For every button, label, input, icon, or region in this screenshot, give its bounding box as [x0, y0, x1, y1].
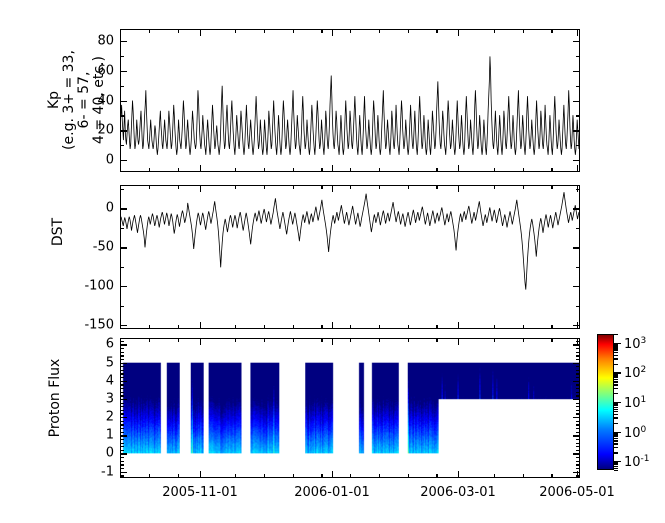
x-tick-minor-top — [264, 338, 265, 342]
x-tick-major-top — [577, 185, 578, 192]
x-tick-minor-bottom — [264, 168, 265, 172]
x-tick-minor-bottom — [551, 474, 552, 478]
x-tick-minor-top — [293, 185, 294, 189]
x-tick-minor-top — [408, 338, 409, 342]
y-tick-major — [120, 101, 127, 102]
y-tick-major-right — [573, 41, 580, 42]
y-tick-label: 3 — [106, 392, 114, 405]
y-tick-label: 0 — [106, 447, 114, 460]
y-tick-major — [120, 435, 127, 436]
x-tick-major-bottom — [332, 471, 333, 478]
y-tick-major — [120, 130, 127, 131]
y-tick-major-right — [573, 247, 580, 248]
y-tick-major — [120, 399, 127, 400]
x-tick-minor-bottom — [178, 325, 179, 329]
y-tick-minor-right — [576, 145, 580, 146]
y-tick-major — [120, 363, 127, 364]
flux-y-tick-labels: -10123456 — [58, 338, 114, 478]
y-tick-minor-right — [576, 355, 580, 356]
colorbar-tick-minor — [614, 379, 618, 380]
colorbar-tick-exponent: 1 — [641, 395, 647, 405]
x-tick-minor-bottom — [350, 474, 351, 478]
y-tick-major-right — [573, 130, 580, 131]
y-tick-major — [120, 208, 127, 209]
x-tick-major-top — [200, 29, 201, 36]
x-tick-major-bottom — [577, 471, 578, 478]
x-tick-minor-top — [178, 185, 179, 189]
y-tick-minor — [120, 377, 124, 378]
colorbar-tick-label: 10-1 — [624, 453, 650, 469]
x-tick-major-bottom — [200, 165, 201, 172]
x-tick-major-top — [458, 29, 459, 36]
y-tick-major — [120, 160, 127, 161]
x-tick-major-top — [458, 338, 459, 345]
x-tick-minor-top — [264, 185, 265, 189]
y-tick-minor — [120, 352, 124, 353]
y-tick-minor — [120, 145, 124, 146]
dst-axis-title-text: DST — [51, 218, 66, 246]
y-tick-minor — [120, 267, 124, 268]
x-tick-major-top — [458, 185, 459, 192]
x-tick-minor-bottom — [494, 168, 495, 172]
x-tick-minor-bottom — [408, 474, 409, 478]
colorbar-tick-label: 101 — [624, 394, 646, 410]
y-tick-major-right — [573, 208, 580, 209]
x-tick-minor-bottom — [321, 168, 322, 172]
x-tick-minor-bottom — [523, 325, 524, 329]
x-tick-minor-top — [235, 338, 236, 342]
x-tick-minor-bottom — [178, 474, 179, 478]
y-tick-minor-right — [576, 384, 580, 385]
colorbar-tick-minor — [614, 438, 618, 439]
x-tick-major-top — [577, 29, 578, 36]
y-tick-major-right — [573, 435, 580, 436]
y-tick-minor-right — [576, 392, 580, 393]
x-tick-major-top — [332, 29, 333, 36]
y-tick-minor-right — [576, 366, 580, 367]
y-tick-minor-right — [576, 228, 580, 229]
colorbar-tick-minor — [614, 388, 618, 389]
y-tick-label: 6 — [106, 338, 114, 351]
y-tick-minor — [120, 421, 124, 422]
y-tick-major — [120, 286, 127, 287]
y-tick-label: 5 — [106, 356, 114, 369]
panel-dst-plot-area — [121, 186, 579, 328]
colorbar-tick-minor — [614, 346, 618, 347]
proton-flux-spectrogram — [121, 339, 579, 477]
y-tick-major-right — [573, 417, 580, 418]
dst-series-line — [121, 186, 579, 328]
y-tick-minor — [120, 366, 124, 367]
colorbar: 10-1100101102103 — [597, 334, 661, 474]
y-tick-minor — [120, 428, 124, 429]
x-tick-minor-top — [149, 29, 150, 33]
x-tick-minor-bottom — [149, 325, 150, 329]
x-tick-minor-top — [436, 338, 437, 342]
x-tick-minor-bottom — [235, 474, 236, 478]
colorbar-tick-minor — [614, 462, 618, 463]
colorbar-tick-minor — [614, 334, 618, 335]
y-tick-minor — [120, 439, 124, 440]
x-tick-major-bottom — [458, 165, 459, 172]
kp-series-line — [121, 30, 579, 171]
y-tick-major-right — [573, 101, 580, 102]
x-tick-major-bottom — [458, 322, 459, 329]
y-tick-minor — [120, 443, 124, 444]
x-tick-major-top — [332, 185, 333, 192]
x-tick-minor-bottom — [551, 325, 552, 329]
x-tick-minor-top — [379, 338, 380, 342]
x-tick-major-bottom — [577, 322, 578, 329]
colorbar-tick-minor — [614, 407, 618, 408]
colorbar-tick-minor — [614, 447, 618, 448]
y-tick-major-right — [573, 363, 580, 364]
figure-canvas: 020406080 Kp(e.g. 3+ = 33,6- = 57,4 = 40… — [0, 0, 665, 523]
x-tick-minor-top — [494, 338, 495, 342]
x-tick-minor-bottom — [408, 168, 409, 172]
colorbar-tick-label: 102 — [624, 364, 646, 380]
y-tick-minor — [120, 464, 124, 465]
y-tick-major — [120, 381, 127, 382]
y-tick-minor-right — [576, 406, 580, 407]
colorbar-tick-exponent: 3 — [641, 336, 647, 346]
y-tick-minor — [120, 468, 124, 469]
x-tick-minor-bottom — [494, 325, 495, 329]
colorbar-tick-minor — [614, 355, 618, 356]
colorbar-tick-minor — [614, 468, 618, 469]
x-tick-minor-bottom — [523, 474, 524, 478]
kp-axis-title: Kp(e.g. 3+ = 33,6- = 57,4 = 40, etc.) — [21, 15, 133, 185]
colorbar-tick-minor — [614, 409, 618, 410]
y-tick-minor — [120, 457, 124, 458]
y-tick-major — [120, 344, 127, 345]
y-tick-minor-right — [576, 395, 580, 396]
colorbar-tick-minor — [614, 470, 618, 471]
x-tick-minor-top — [235, 29, 236, 33]
x-tick-minor-top — [436, 29, 437, 33]
x-tick-minor-bottom — [408, 325, 409, 329]
colorbar-tick-minor — [614, 443, 618, 444]
x-tick-major-bottom — [577, 165, 578, 172]
x-tick-minor-top — [523, 29, 524, 33]
y-tick-label: -1 — [101, 465, 114, 478]
y-tick-minor — [120, 432, 124, 433]
y-tick-minor — [120, 424, 124, 425]
x-tick-minor-top — [523, 338, 524, 342]
y-tick-label: 0 — [106, 202, 114, 215]
x-tick-minor-top — [264, 29, 265, 33]
colorbar-tick-minor — [614, 377, 618, 378]
y-tick-minor-right — [576, 446, 580, 447]
y-tick-minor-right — [576, 267, 580, 268]
y-tick-minor — [120, 359, 124, 360]
colorbar-tick-minor — [614, 414, 618, 415]
colorbar-tick-minor — [614, 423, 618, 424]
y-tick-minor-right — [576, 410, 580, 411]
y-tick-major-right — [573, 160, 580, 161]
colorbar-tick-minor — [614, 434, 618, 435]
y-tick-minor — [120, 115, 124, 116]
y-tick-minor-right — [576, 439, 580, 440]
x-tick-minor-top — [235, 185, 236, 189]
x-tick-minor-top — [350, 338, 351, 342]
colorbar-tick-minor — [614, 411, 618, 412]
colorbar-tick-minor — [614, 452, 618, 453]
y-tick-major-right — [573, 381, 580, 382]
panel-kp — [120, 29, 580, 172]
y-tick-label: 2 — [106, 411, 114, 424]
y-tick-major-right — [573, 286, 580, 287]
x-tick-minor-top — [436, 185, 437, 189]
x-tick-minor-top — [178, 29, 179, 33]
x-tick-minor-bottom — [321, 325, 322, 329]
colorbar-tick-minor — [614, 374, 618, 375]
y-tick-minor-right — [576, 373, 580, 374]
y-tick-minor-right — [576, 468, 580, 469]
proton-flux-axis-title-text: Proton Flux — [48, 359, 63, 438]
panel-flux-plot-area — [121, 339, 579, 477]
colorbar-tick-minor — [614, 358, 618, 359]
x-tick-major-bottom — [200, 322, 201, 329]
y-tick-minor — [120, 56, 124, 57]
x-tick-minor-bottom — [436, 168, 437, 172]
y-tick-minor — [120, 395, 124, 396]
colorbar-tick-minor — [614, 405, 618, 406]
y-tick-minor-right — [576, 370, 580, 371]
y-tick-minor-right — [576, 86, 580, 87]
x-tick-minor-bottom — [350, 168, 351, 172]
y-tick-minor-right — [576, 359, 580, 360]
x-tick-minor-bottom — [149, 474, 150, 478]
x-tick-minor-bottom — [350, 325, 351, 329]
colorbar-tick-minor — [614, 440, 618, 441]
colorbar-tick-minor — [614, 352, 618, 353]
y-tick-minor-right — [576, 115, 580, 116]
y-tick-label: -100 — [84, 280, 114, 293]
dst-axis-title: DST — [48, 182, 68, 282]
x-tick-minor-bottom — [436, 474, 437, 478]
colorbar-tick-minor — [614, 381, 618, 382]
series-path — [121, 56, 579, 154]
panel-dst — [120, 185, 580, 329]
x-tick-minor-top — [149, 185, 150, 189]
x-tick-minor-top — [293, 338, 294, 342]
y-tick-minor — [120, 86, 124, 87]
panel-proton-flux — [120, 338, 580, 478]
y-tick-minor — [120, 475, 124, 476]
y-tick-minor — [120, 348, 124, 349]
y-tick-minor-right — [576, 377, 580, 378]
x-tick-minor-bottom — [551, 168, 552, 172]
colorbar-tick-minor — [614, 403, 618, 404]
y-tick-major — [120, 417, 127, 418]
x-tick-minor-top — [494, 185, 495, 189]
y-tick-minor — [120, 228, 124, 229]
x-tick-minor-top — [321, 29, 322, 33]
y-tick-minor — [120, 355, 124, 356]
y-tick-minor-right — [576, 403, 580, 404]
colorbar-tick-label: 100 — [624, 423, 646, 439]
y-tick-minor — [120, 306, 124, 307]
x-tick-minor-top — [321, 185, 322, 189]
x-tick-minor-bottom — [293, 474, 294, 478]
colorbar-tick-minor — [614, 393, 618, 394]
y-tick-minor — [120, 392, 124, 393]
y-tick-minor-right — [576, 413, 580, 414]
y-tick-label: 4 — [106, 374, 114, 387]
kp-axis-title-line: (e.g. 3+ = 33, — [62, 50, 77, 150]
x-tick-minor-top — [551, 185, 552, 189]
x-tick-minor-bottom — [379, 474, 380, 478]
y-tick-minor — [120, 373, 124, 374]
y-tick-minor — [120, 388, 124, 389]
colorbar-gradient — [597, 334, 614, 470]
y-tick-minor-right — [576, 432, 580, 433]
colorbar-tick-minor — [614, 464, 618, 465]
panel-kp-plot-area — [121, 30, 579, 171]
x-tick-minor-top — [178, 338, 179, 342]
proton-flux-axis-title: Proton Flux — [45, 338, 65, 458]
colorbar-tick-minor — [614, 347, 618, 348]
y-tick-minor-right — [576, 421, 580, 422]
y-tick-major-right — [573, 399, 580, 400]
y-tick-minor — [120, 341, 124, 342]
y-tick-major — [120, 41, 127, 42]
colorbar-tick-minor — [614, 433, 618, 434]
x-tick-major-bottom — [332, 322, 333, 329]
x-tick-label: 2006-05-01 — [539, 486, 615, 500]
x-tick-minor-bottom — [293, 168, 294, 172]
x-tick-major-top — [332, 338, 333, 345]
x-tick-minor-bottom — [436, 325, 437, 329]
x-tick-minor-top — [149, 338, 150, 342]
colorbar-tick-minor — [614, 349, 618, 350]
y-tick-minor — [120, 189, 124, 190]
x-tick-minor-bottom — [235, 168, 236, 172]
y-tick-minor — [120, 403, 124, 404]
x-tick-minor-top — [350, 29, 351, 33]
y-tick-minor-right — [576, 464, 580, 465]
x-tick-minor-top — [551, 29, 552, 33]
series-path — [121, 192, 579, 289]
colorbar-tick-label: 103 — [624, 335, 646, 351]
kp-axis-title-line: 6- = 57, — [77, 50, 92, 150]
y-tick-minor — [120, 461, 124, 462]
colorbar-tick-minor — [614, 417, 618, 418]
colorbar-tick-minor — [614, 384, 618, 385]
x-tick-minor-top — [408, 185, 409, 189]
y-tick-minor-right — [576, 56, 580, 57]
x-tick-minor-bottom — [321, 474, 322, 478]
x-tick-major-top — [200, 338, 201, 345]
x-tick-label: 2006-03-01 — [420, 486, 496, 500]
y-tick-minor-right — [576, 443, 580, 444]
y-tick-major — [120, 325, 127, 326]
x-tick-minor-bottom — [178, 168, 179, 172]
x-tick-minor-bottom — [149, 168, 150, 172]
colorbar-tick-exponent: -1 — [641, 454, 650, 464]
y-tick-major-right — [573, 453, 580, 454]
kp-axis-title-line: Kp — [47, 50, 62, 150]
y-tick-minor-right — [576, 457, 580, 458]
y-tick-minor-right — [576, 306, 580, 307]
x-tick-minor-bottom — [293, 325, 294, 329]
y-tick-major — [120, 71, 127, 72]
x-tick-minor-top — [379, 29, 380, 33]
x-tick-minor-top — [321, 338, 322, 342]
x-tick-major-top — [200, 185, 201, 192]
y-tick-minor — [120, 384, 124, 385]
x-tick-minor-top — [408, 29, 409, 33]
colorbar-tick-exponent: 0 — [641, 424, 647, 434]
colorbar-tick-minor — [614, 436, 618, 437]
y-tick-minor — [120, 410, 124, 411]
kp-axis-title-line: 4 = 40, etc.) — [92, 50, 107, 150]
y-tick-major — [120, 247, 127, 248]
y-tick-minor — [120, 406, 124, 407]
x-tick-minor-top — [551, 338, 552, 342]
x-tick-minor-top — [523, 185, 524, 189]
colorbar-tick-minor — [614, 466, 618, 467]
x-tick-minor-top — [350, 185, 351, 189]
x-tick-minor-bottom — [264, 474, 265, 478]
y-tick-label: -150 — [84, 319, 114, 332]
x-tick-minor-top — [494, 29, 495, 33]
x-tick-minor-bottom — [494, 474, 495, 478]
y-tick-minor-right — [576, 348, 580, 349]
y-tick-label: 1 — [106, 429, 114, 442]
x-tick-minor-bottom — [379, 325, 380, 329]
y-tick-minor-right — [576, 450, 580, 451]
x-tick-minor-bottom — [379, 168, 380, 172]
x-tick-major-top — [577, 338, 578, 345]
y-tick-minor-right — [576, 352, 580, 353]
x-tick-major-bottom — [458, 471, 459, 478]
colorbar-tick-minor — [614, 344, 618, 345]
y-tick-minor-right — [576, 461, 580, 462]
colorbar-tick-minor — [614, 364, 618, 365]
y-tick-minor-right — [576, 424, 580, 425]
y-tick-major — [120, 453, 127, 454]
x-tick-minor-top — [379, 185, 380, 189]
x-tick-major-bottom — [200, 471, 201, 478]
y-tick-minor — [120, 450, 124, 451]
x-tick-label: 2006-01-01 — [294, 486, 370, 500]
x-tick-minor-bottom — [264, 325, 265, 329]
y-tick-major — [120, 472, 127, 473]
y-tick-label: -50 — [93, 241, 114, 254]
y-tick-minor — [120, 446, 124, 447]
x-tick-label: 2005-11-01 — [162, 486, 238, 500]
colorbar-tick-exponent: 2 — [641, 365, 647, 375]
y-tick-minor — [120, 413, 124, 414]
y-tick-minor-right — [576, 388, 580, 389]
x-tick-minor-bottom — [523, 168, 524, 172]
x-tick-minor-top — [293, 29, 294, 33]
x-tick-minor-bottom — [235, 325, 236, 329]
y-tick-major-right — [573, 71, 580, 72]
y-tick-minor — [120, 370, 124, 371]
y-tick-minor-right — [576, 428, 580, 429]
x-tick-major-bottom — [332, 165, 333, 172]
colorbar-tick-minor — [614, 375, 618, 376]
